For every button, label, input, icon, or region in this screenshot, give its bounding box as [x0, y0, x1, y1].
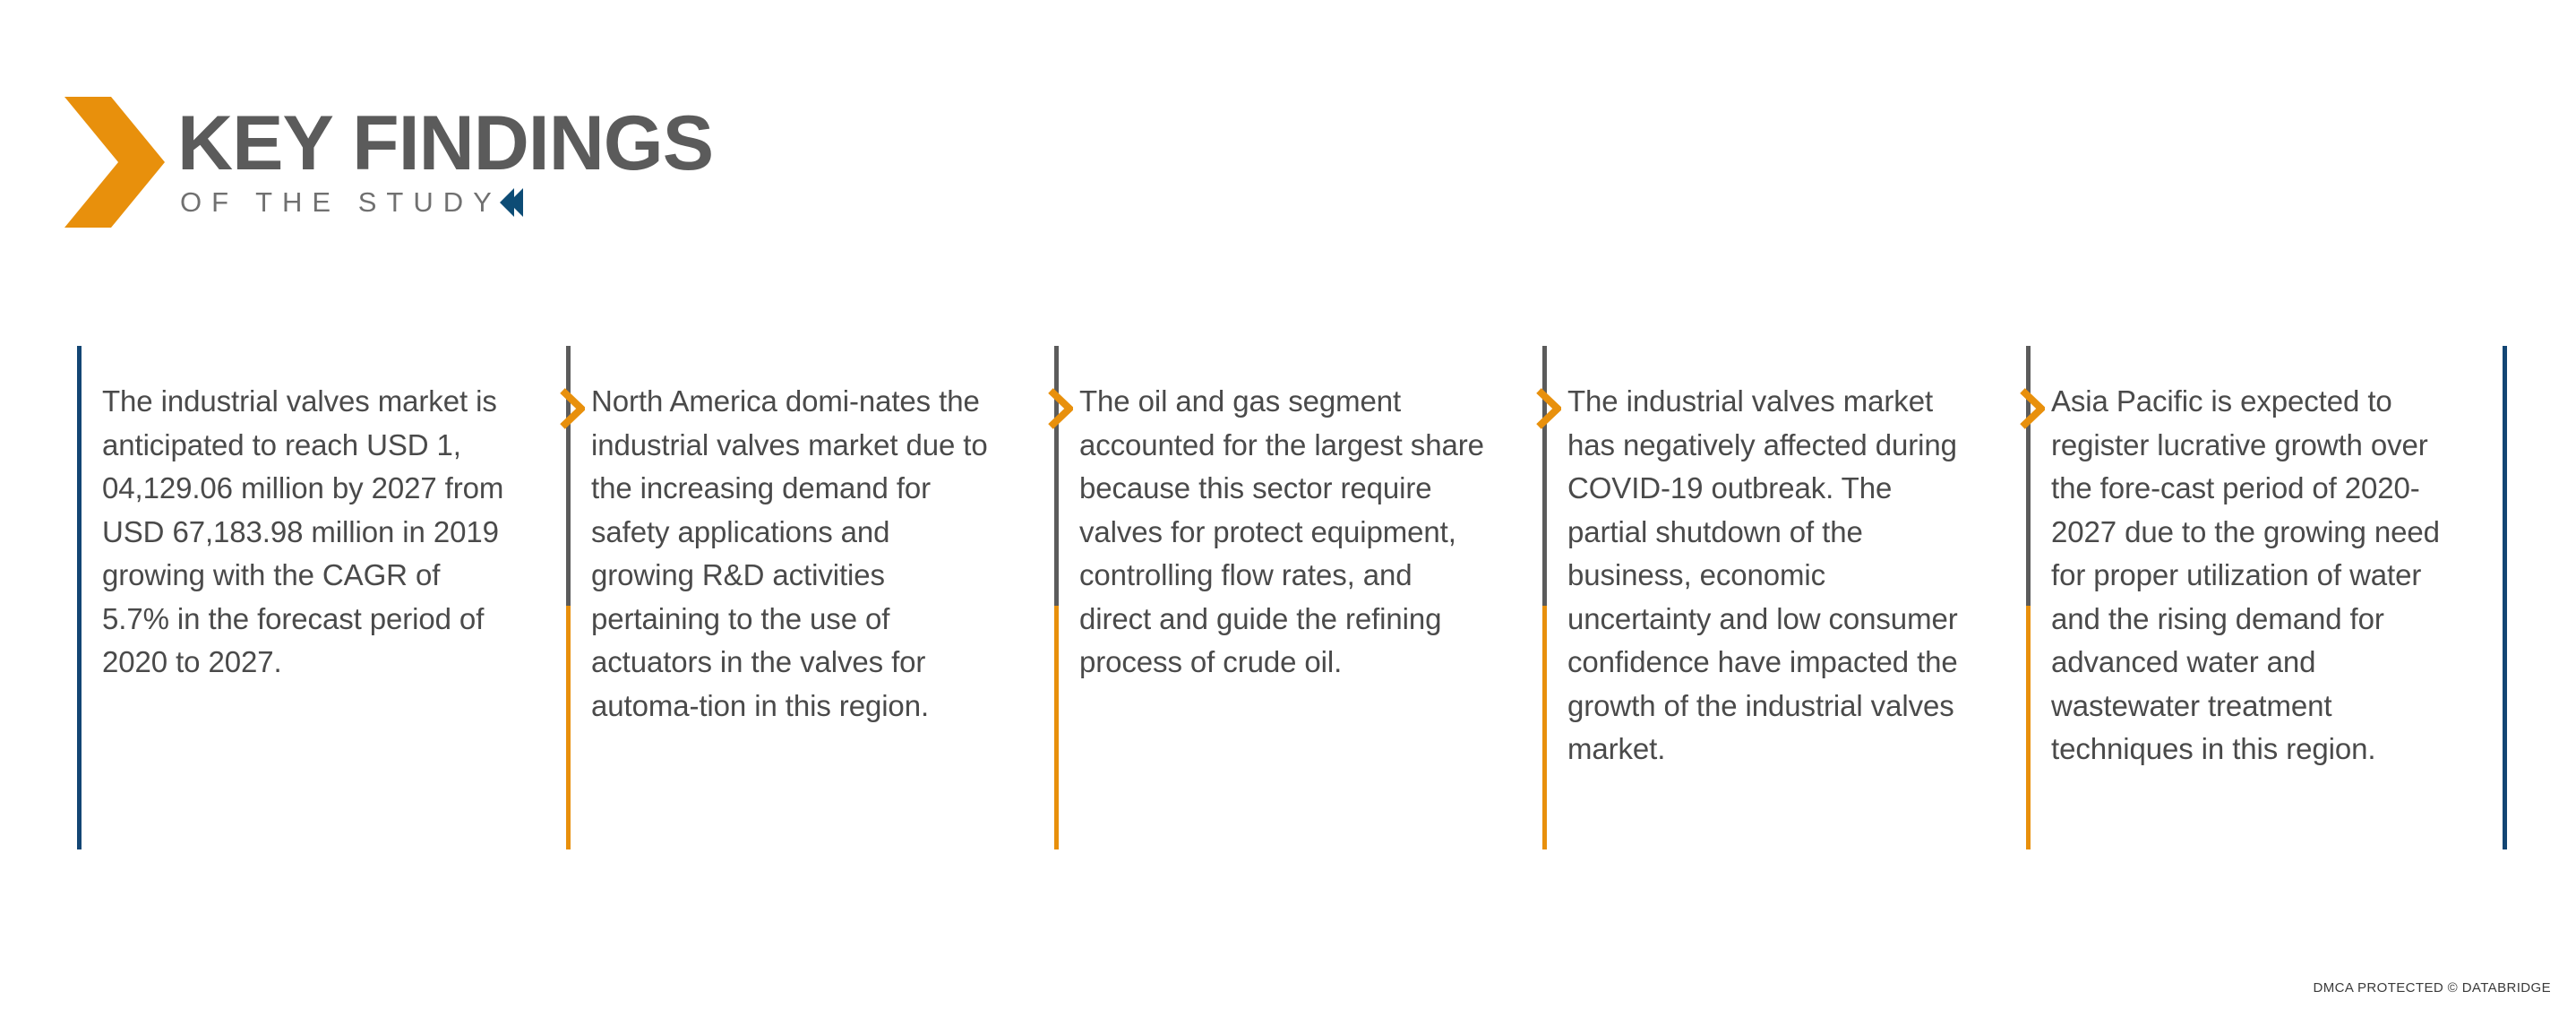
bar-segment-bottom — [1542, 606, 1547, 849]
finding-text-3: The oil and gas segment accounted for th… — [1079, 380, 1484, 685]
bar-segment-top — [2026, 346, 2031, 606]
chevron-right-marker-icon — [1046, 388, 1073, 429]
bar-segment-bottom — [2026, 606, 2031, 849]
finding-bar-4 — [1533, 346, 1560, 849]
bar-segment-top — [1542, 346, 1547, 606]
finding-bar-5 — [2017, 346, 2044, 849]
findings-list: 1 The industrial valves market is antici… — [0, 0, 2576, 1026]
bar-segment-top — [566, 346, 571, 606]
chevron-right-marker-icon — [2018, 388, 2045, 429]
chevron-right-marker-icon — [558, 388, 585, 429]
finding-text-4: The industrial valves market has negativ… — [1567, 380, 1972, 772]
finding-bar-2 — [557, 346, 584, 849]
finding-bar-3 — [1045, 346, 1072, 849]
finding-text-2: North America domi-nates the industrial … — [591, 380, 996, 728]
finding-bar-1 — [68, 346, 95, 849]
bar-segment-top — [77, 346, 82, 849]
finding-text-5: Asia Pacific is expected to register luc… — [2051, 380, 2456, 772]
bar-segment-top — [1054, 346, 1059, 606]
bar-segment-bottom — [1054, 606, 1059, 849]
trailing-divider-bar — [2503, 346, 2507, 849]
dmca-notice: DMCA PROTECTED © DATABRIDGE — [2314, 980, 2552, 996]
bar-segment-bottom — [566, 606, 571, 849]
chevron-right-marker-icon — [1534, 388, 1561, 429]
finding-text-1: The industrial valves market is anticipa… — [102, 380, 507, 685]
